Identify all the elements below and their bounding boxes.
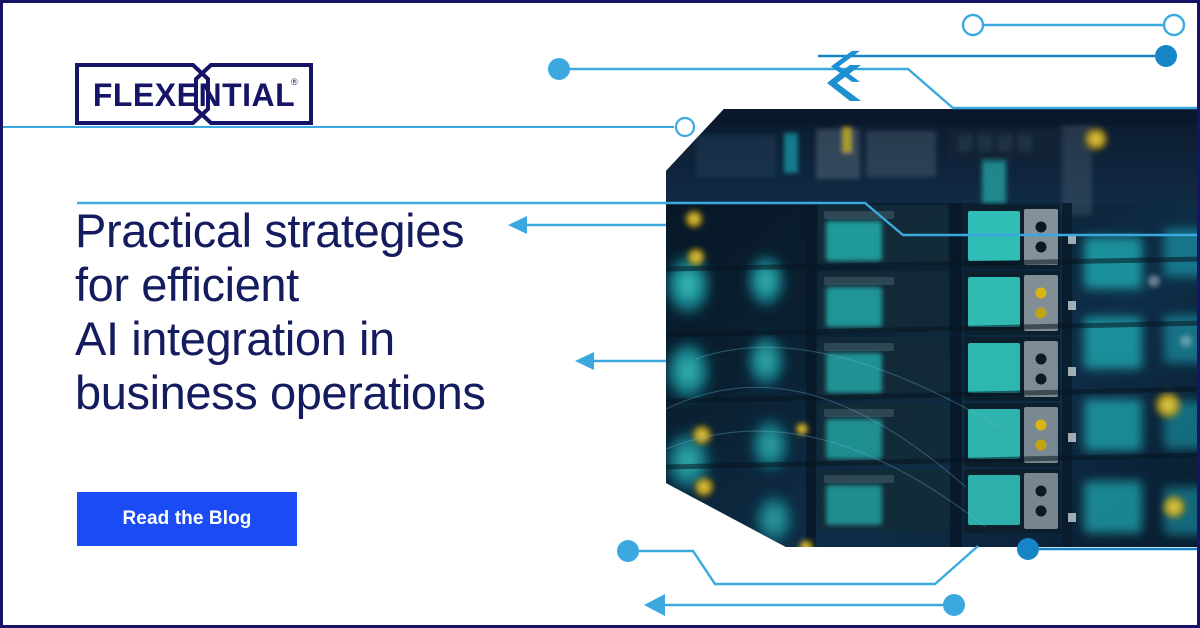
node-top-hollow-left	[963, 15, 983, 35]
circuit-trace-6	[639, 546, 978, 584]
marketing-banner: FLEXENTIAL ®	[0, 0, 1200, 628]
headline-line-3: AI integration in	[75, 312, 575, 366]
headline-line-4: business operations	[75, 366, 575, 420]
flexential-logo-mark: FLEXENTIAL ®	[75, 63, 313, 125]
node-bottom-filled-left	[617, 540, 639, 562]
headline-line-1: Practical strategies	[75, 204, 575, 258]
headline-line-2: for efficient	[75, 258, 575, 312]
flexential-logo[interactable]: FLEXENTIAL ®	[75, 63, 313, 125]
node-image-corner-hollow	[676, 118, 694, 136]
read-the-blog-button[interactable]: Read the Blog	[77, 492, 297, 546]
node-bottom-arrow-dot	[943, 594, 965, 616]
bottom-arrow-head-icon	[644, 594, 665, 616]
chevron-left-icon	[831, 51, 860, 82]
server-rack-image	[666, 109, 1200, 547]
headline-arrow-lower	[575, 352, 666, 370]
node-top-filled-right	[1155, 45, 1177, 67]
data-center-photo	[666, 109, 1200, 547]
logo-registered-mark: ®	[291, 77, 298, 87]
logo-wordmark: FLEXENTIAL	[93, 77, 295, 113]
node-top-filled-left	[548, 58, 570, 80]
node-top-hollow-right	[1164, 15, 1184, 35]
circuit-trace-1	[570, 69, 1200, 108]
page-title: Practical strategies for efficient AI in…	[75, 204, 575, 420]
